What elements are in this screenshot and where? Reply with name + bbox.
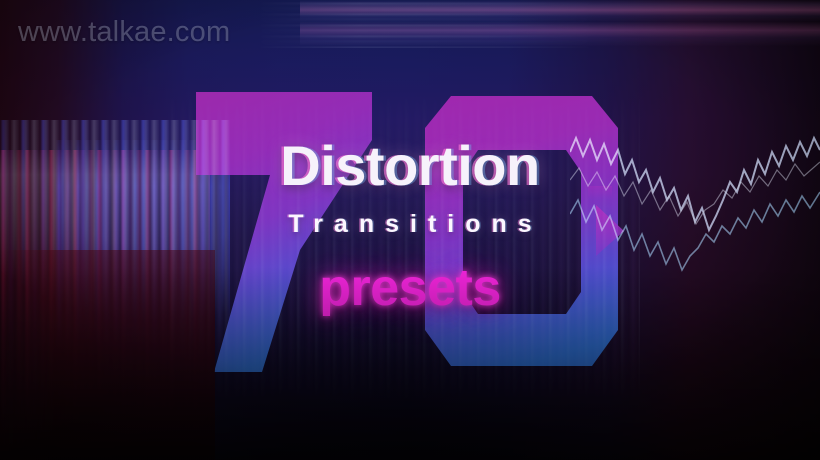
numerals-70 [0,0,820,460]
glitch-streaks-centre [170,95,640,400]
glitch-streaks-left-blue [55,140,230,350]
smear-top-pink [300,0,820,72]
glitch-streaks-left [0,150,210,460]
poster-canvas: Distortion Transitions presets www.talka… [0,0,820,460]
background-gradient [0,0,820,460]
vignette-overlay [0,0,820,460]
watermark-url: www.talkae.com [18,18,230,47]
smear-top-scanlines [260,2,590,48]
numeral-zero [410,86,635,376]
glitch-streaks-right [0,120,230,370]
background-zones [0,0,820,460]
subtitle-transitions: Transitions [0,212,820,237]
waveform-right [570,130,820,310]
numeral-seven [196,92,372,372]
headline-distortion: Distortion [0,138,820,194]
dark-block-right [0,250,215,460]
tagline-presets: presets [0,262,820,314]
